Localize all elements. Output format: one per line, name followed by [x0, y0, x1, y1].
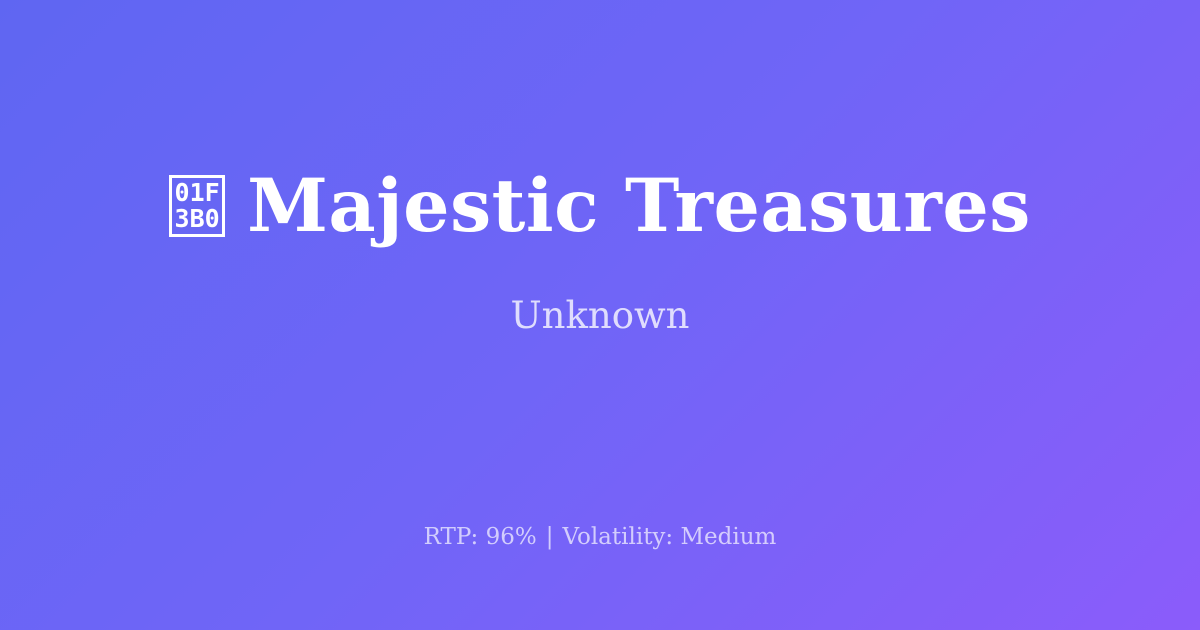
rtp-value: RTP: 96%	[424, 524, 537, 552]
tofu-codepoint-bottom: 3B0	[175, 206, 220, 232]
game-meta-line: RTP: 96% | Volatility: Medium	[0, 524, 1200, 552]
page-title: Majestic Treasures	[247, 168, 1031, 245]
meta-separator: |	[537, 524, 563, 552]
hero-block: 01F 3B0 Majestic Treasures Unknown	[0, 0, 1200, 505]
page-subtitle: Unknown	[510, 244, 689, 337]
title-row: 01F 3B0 Majestic Treasures	[169, 168, 1031, 245]
slot-machine-icon: 01F 3B0	[169, 175, 225, 237]
volatility-value: Volatility: Medium	[562, 524, 776, 552]
game-preview-card: 01F 3B0 Majestic Treasures Unknown RTP: …	[0, 0, 1200, 630]
tofu-codepoint-top: 01F	[175, 180, 220, 206]
